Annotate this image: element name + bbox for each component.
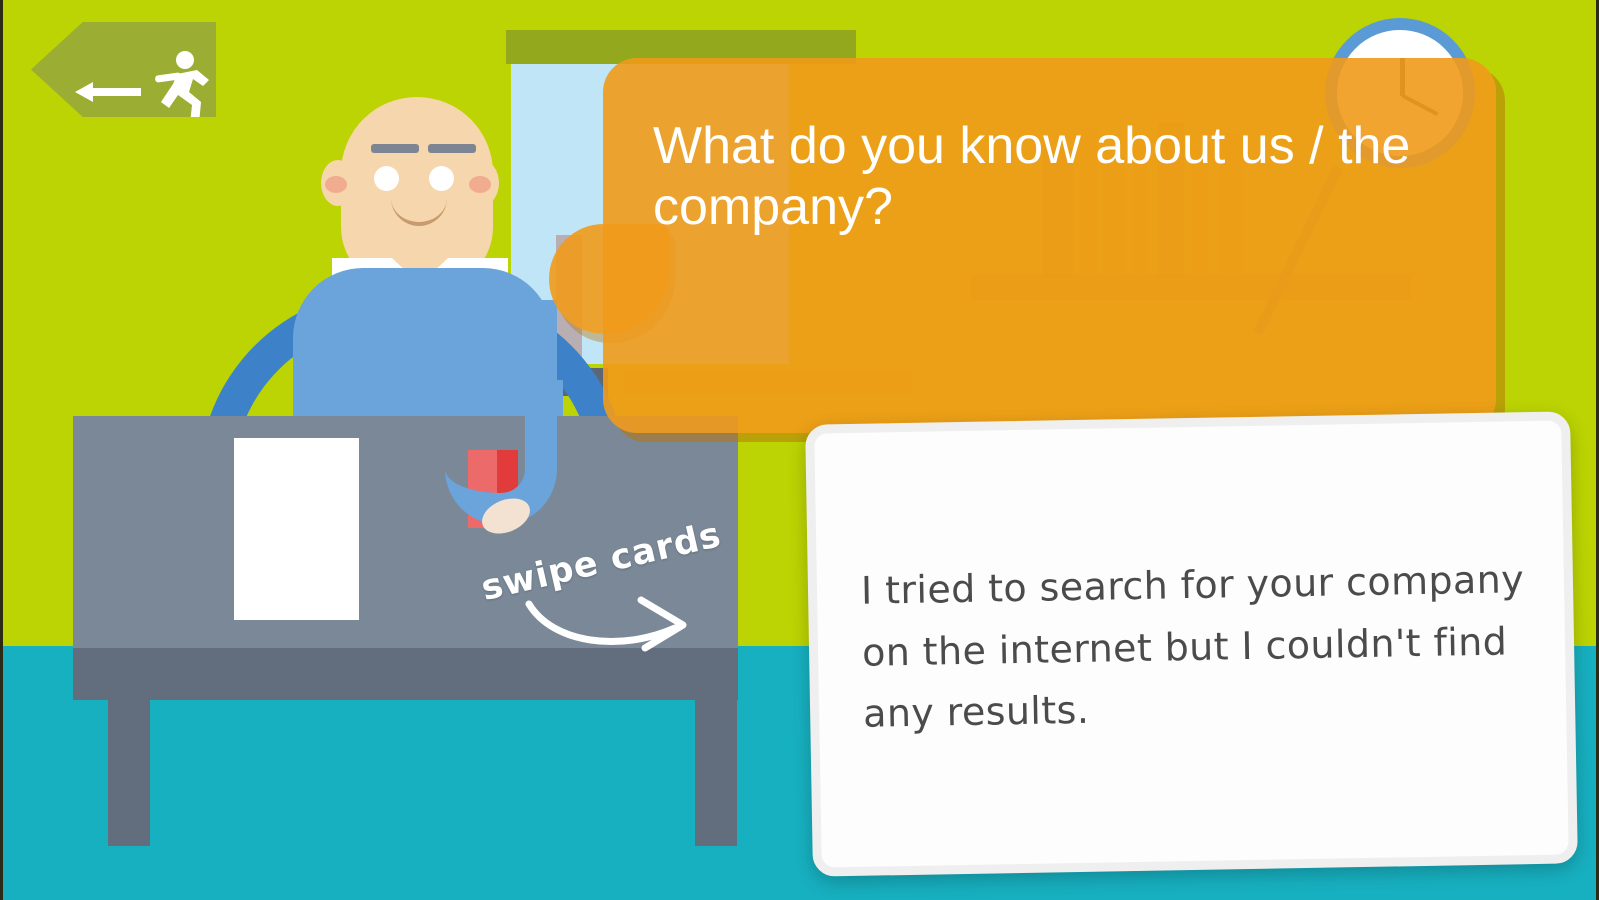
scene-root: swipe cards What do you know about us / … — [0, 0, 1599, 900]
question-card[interactable]: What do you know about us / the company? — [603, 58, 1496, 433]
desk-leg-right — [695, 698, 737, 846]
answer-text: I tried to search for your company on th… — [860, 549, 1533, 745]
avatar-eye-right — [429, 166, 454, 191]
avatar-eyebrow-right — [428, 144, 476, 153]
arrow-left-icon — [75, 82, 141, 102]
running-person-icon — [151, 50, 227, 128]
desk-top — [73, 416, 738, 649]
avatar-cheek-left — [325, 176, 347, 193]
avatar-cheek-right — [469, 176, 491, 193]
desk-edge — [73, 648, 738, 700]
avatar-eye-left — [374, 166, 399, 191]
avatar-eyebrow-left — [371, 144, 419, 153]
paper-sheet — [234, 438, 359, 620]
answer-card[interactable]: I tried to search for your company on th… — [805, 411, 1578, 876]
question-text: What do you know about us / the company? — [653, 116, 1463, 239]
desk-leg-left — [108, 698, 150, 846]
avatar-arm — [445, 300, 557, 525]
